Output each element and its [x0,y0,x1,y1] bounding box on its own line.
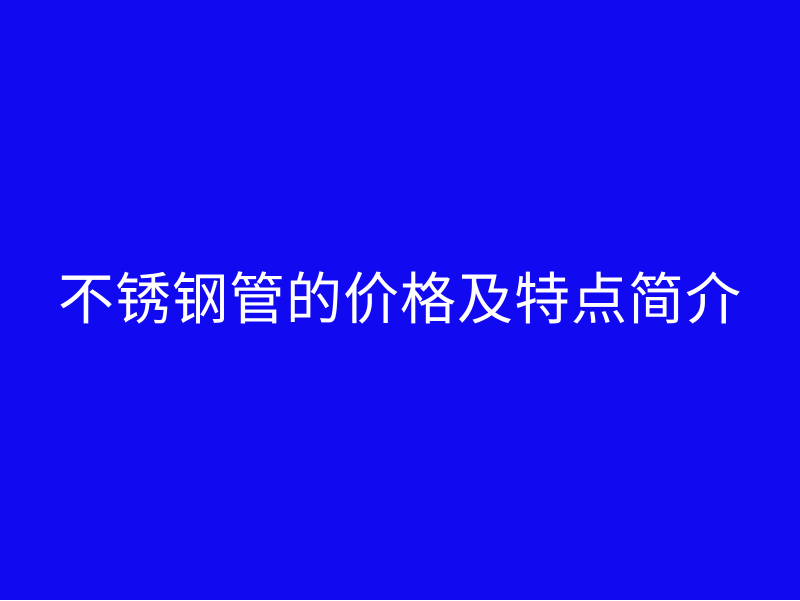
title-slide: 不锈钢管的价格及特点简介 [0,0,800,600]
headline-container: 不锈钢管的价格及特点简介 [0,0,800,601]
page-title: 不锈钢管的价格及特点简介 [58,273,742,329]
